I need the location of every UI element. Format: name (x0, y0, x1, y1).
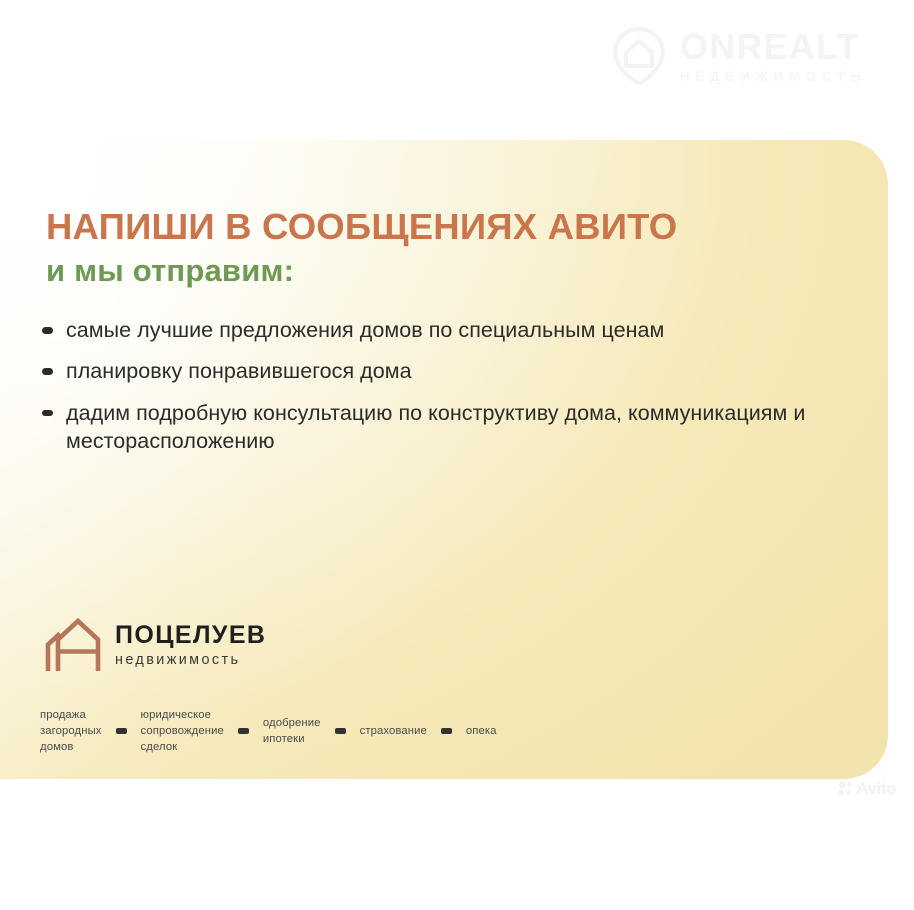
bullet-dash-icon (42, 327, 53, 334)
page-title: НАПИШИ В СООБЩЕНИЯХ АВИТО и мы отправим: (46, 209, 846, 286)
list-item-text: дадим подробную консультацию по конструк… (66, 401, 805, 453)
headline-secondary: и мы отправим: (46, 255, 846, 286)
separator-dash-icon (441, 728, 452, 734)
bullet-dash-icon (42, 410, 53, 417)
list-item-text: планировку понравившегося дома (66, 359, 412, 383)
poster-canvas: ONREALT НЕДВИЖИМОСТЬ НАПИШИ В СООБЩЕНИЯХ… (0, 0, 914, 910)
service-item: страхование (360, 723, 427, 739)
service-item: опека (466, 723, 497, 739)
separator-dash-icon (116, 728, 127, 734)
benefits-list: самые лучшие предложения домов по специа… (40, 316, 870, 456)
bullet-dash-icon (42, 368, 53, 375)
promo-card: НАПИШИ В СООБЩЕНИЯХ АВИТО и мы отправим:… (0, 140, 888, 779)
house-pin-icon (612, 27, 666, 85)
card-content: НАПИШИ В СООБЩЕНИЯХ АВИТО и мы отправим:… (0, 140, 888, 779)
logo-text-block: ПОЦЕЛУЕВ недвижимость (115, 621, 266, 667)
service-item: одобрение ипотеки (263, 715, 321, 747)
avito-wordmark: Avito (856, 780, 896, 797)
onrealt-title: ONREALT (680, 29, 866, 65)
onrealt-subtitle: НЕДВИЖИМОСТЬ (680, 70, 866, 84)
service-item: юридическое сопровождение сделок (141, 707, 224, 755)
list-item: дадим подробную консультацию по конструк… (40, 399, 870, 456)
onrealt-watermark: ONREALT НЕДВИЖИМОСТЬ (612, 24, 904, 88)
logo-company-name: ПОЦЕЛУЕВ (115, 623, 266, 648)
list-item: самые лучшие предложения домов по специа… (40, 316, 870, 344)
logo-tagline: недвижимость (115, 653, 266, 667)
house-monogram-icon (43, 613, 103, 675)
service-item: продажа загородных домов (40, 707, 102, 755)
services-strip: продажа загородных домов юридическое соп… (40, 707, 640, 755)
company-logo: ПОЦЕЛУЕВ недвижимость (43, 613, 266, 675)
avito-watermark: Avito (838, 780, 896, 797)
headline-primary: НАПИШИ В СООБЩЕНИЯХ АВИТО (46, 209, 846, 246)
separator-dash-icon (238, 728, 249, 734)
avito-dots-icon (838, 781, 853, 796)
list-item: планировку понравившегося дома (40, 357, 870, 385)
separator-dash-icon (335, 728, 346, 734)
list-item-text: самые лучшие предложения домов по специа… (66, 318, 664, 342)
onrealt-wordmark: ONREALT НЕДВИЖИМОСТЬ (680, 29, 866, 84)
